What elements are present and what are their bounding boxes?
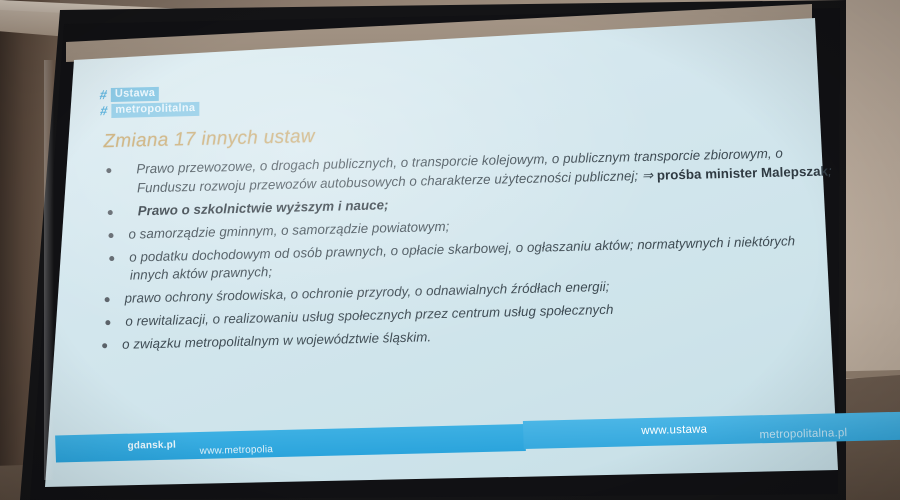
- bullet-1-text-after: ;: [828, 163, 832, 178]
- bullet-2-text: Prawo o szkolnictwie wyższym i nauce;: [137, 197, 388, 218]
- footer-left-url: www.metropoliagdansk.pl: [127, 440, 176, 452]
- footer-left-url-suffix: gdansk.pl: [127, 440, 176, 452]
- footer-right-url: www.ustawametropolitalna.pl: [641, 424, 707, 438]
- footer-left-url-prefix: www.metropolia: [200, 444, 274, 457]
- slide-title: Zmiana 17 innych ustaw: [103, 126, 315, 153]
- bullet-7-text: o związku metropolitalnym w województwie…: [122, 329, 432, 352]
- logo-line-1: # Ustawa: [100, 85, 200, 102]
- hash-icon: #: [98, 87, 107, 102]
- logo-word-ustawa: Ustawa: [111, 86, 159, 101]
- logo-line-2: # metropolitalna: [100, 101, 200, 118]
- projected-slide-photo: # Ustawa # metropolitalna Zmiana 17 inny…: [0, 0, 900, 500]
- bullet-3-text: o samorządzie gminnym, o samorządzie pow…: [128, 218, 449, 241]
- hash-icon-2: #: [99, 103, 108, 118]
- footer-bar-left: www.metropoliagdansk.pl: [55, 424, 526, 462]
- logo-ustawa-metropolitalna: # Ustawa # metropolitalna: [100, 85, 200, 119]
- footer-right-url-suffix: metropolitalna.pl: [759, 427, 847, 441]
- footer-bar-right: www.ustawametropolitalna.pl: [523, 411, 900, 449]
- footer-right-url-prefix: www.ustawa: [641, 424, 707, 438]
- logo-word-metropolitalna: metropolitalna: [112, 101, 200, 117]
- bullet-list: Prawo przewozowe, o drogach publicznych,…: [92, 143, 838, 359]
- bullet-1-text-bold: prośba minister Malepszak: [657, 163, 829, 182]
- slide-content: # Ustawa # metropolitalna Zmiana 17 inny…: [70, 21, 844, 469]
